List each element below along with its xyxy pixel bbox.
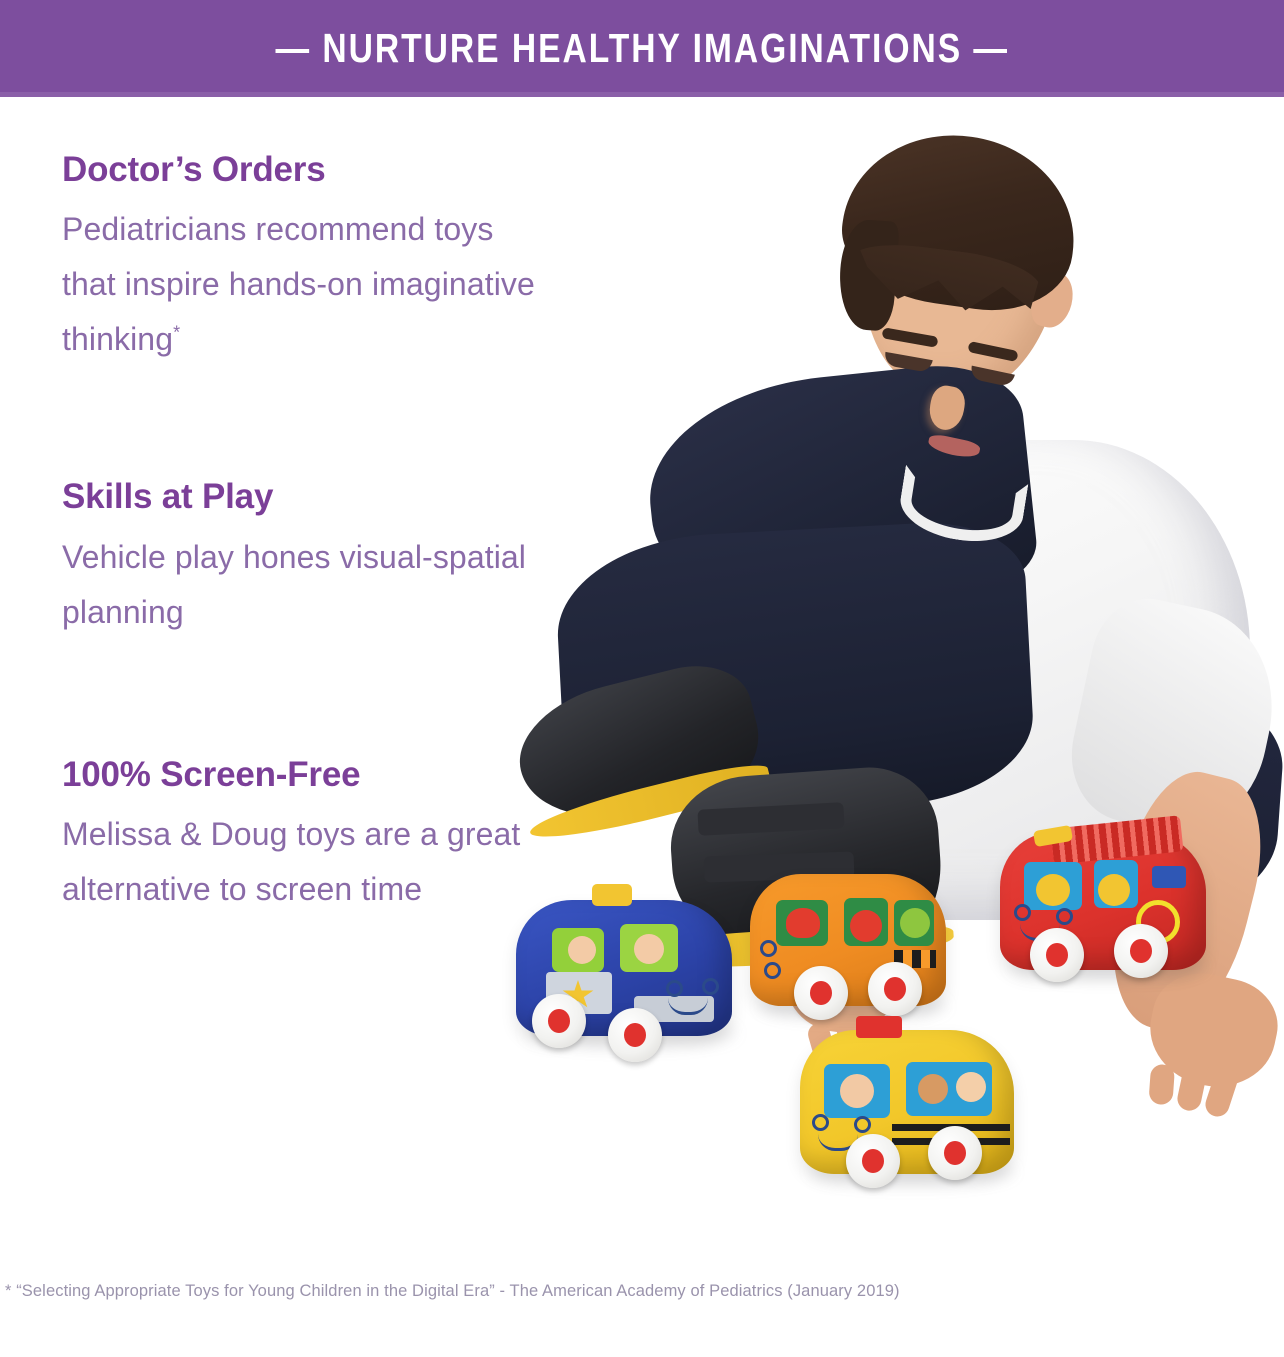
roof-light: [856, 1016, 902, 1038]
headlight-eye: [812, 1114, 829, 1131]
driver-face: [634, 934, 664, 964]
toy-vehicle-school-bus: [800, 1030, 1014, 1174]
headlight-eye: [760, 940, 777, 957]
headlight-eye: [666, 980, 683, 997]
headlight-eye: [764, 962, 781, 979]
header-banner: — NURTURE HEALTHY IMAGINATIONS —: [0, 0, 1284, 97]
feature-block-skills-at-play: Skills at Play Vehicle play hones visual…: [62, 477, 542, 639]
product-lifestyle-photo: [430, 100, 1284, 1260]
wheel: [532, 994, 586, 1048]
feature-body-text: Pediatricians recommend toys that inspir…: [62, 211, 535, 357]
dog-passenger: [786, 908, 820, 938]
bear-firefighter: [1036, 874, 1070, 906]
headlight-eye: [1014, 904, 1031, 921]
wheel: [928, 1126, 982, 1180]
side-panel: [1152, 866, 1186, 888]
wheel: [608, 1008, 662, 1062]
wheel: [868, 962, 922, 1016]
finger: [1148, 1064, 1175, 1106]
wheel: [846, 1134, 900, 1188]
child-passenger: [840, 1074, 874, 1108]
feature-body: Melissa & Doug toys are a great alternat…: [62, 807, 542, 917]
dog-passenger: [850, 910, 882, 942]
child-passenger: [956, 1072, 986, 1102]
headlight-eye: [854, 1116, 871, 1133]
passenger-face: [568, 936, 596, 964]
toy-vehicle-fire-truck: [1000, 832, 1206, 970]
feature-heading: Doctor’s Orders: [62, 150, 542, 190]
bear-firefighter: [1098, 874, 1130, 906]
feature-block-doctors-orders: Doctor’s Orders Pediatricians recommend …: [62, 150, 542, 367]
feature-block-screen-free: 100% Screen-Free Melissa & Doug toys are…: [62, 755, 542, 917]
toy-vehicle-police-car: [516, 900, 732, 1036]
wheel: [794, 966, 848, 1020]
feature-copy-column: Doctor’s Orders Pediatricians recommend …: [62, 150, 542, 917]
feature-body: Pediatricians recommend toys that inspir…: [62, 202, 542, 367]
finger: [1202, 1065, 1240, 1120]
feature-body: Vehicle play hones visual-spatial planni…: [62, 530, 542, 640]
wheel: [1114, 924, 1168, 978]
toy-vehicle-orange-van: [750, 874, 946, 1006]
child-passenger: [918, 1074, 948, 1104]
footnote-marker: *: [173, 323, 180, 343]
headlight-eye: [1056, 908, 1073, 925]
headlight-eye: [702, 978, 719, 995]
feature-heading: Skills at Play: [62, 477, 542, 517]
wheel: [1030, 928, 1084, 982]
feature-heading: 100% Screen-Free: [62, 755, 542, 795]
siren-light: [592, 884, 632, 906]
footnote-citation: * “Selecting Appropriate Toys for Young …: [5, 1282, 900, 1301]
bear-passenger: [900, 908, 930, 938]
banner-title: — NURTURE HEALTHY IMAGINATIONS —: [275, 28, 1009, 69]
